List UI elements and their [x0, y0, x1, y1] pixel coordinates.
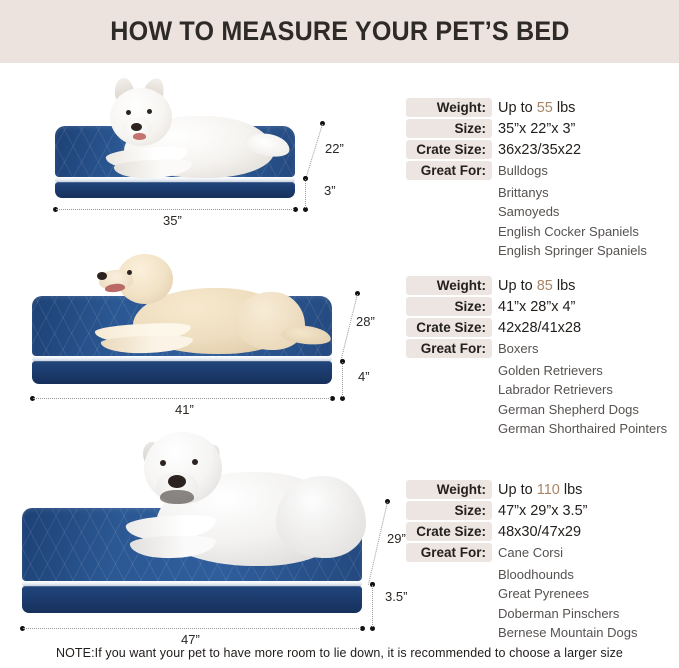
- dim-label-length: 47”: [181, 632, 200, 647]
- breed-row: Doberman Pinschers: [406, 604, 676, 624]
- dim-label-height: 3”: [324, 183, 336, 198]
- spec-line-weight: Weight: Up to 55 lbs: [406, 98, 676, 117]
- dog-ear-left: [139, 439, 166, 467]
- spec-value-crate: 42x28/41x28: [498, 320, 581, 336]
- spacer: [406, 222, 492, 241]
- dim-label-width: 28”: [356, 314, 375, 329]
- spec-value-weight: Up to 110 lbs: [498, 482, 582, 498]
- breed-row: Brittanys: [406, 183, 676, 203]
- spec-value-weight: Up to 55 lbs: [498, 100, 575, 116]
- dim-line-width: [305, 124, 323, 180]
- breed-item: Bloodhounds: [498, 566, 574, 585]
- spec-line-greatfor: Great For: Boxers: [406, 339, 676, 359]
- breed-item: Labrador Retrievers: [498, 381, 613, 400]
- dog-eye-left: [126, 110, 131, 115]
- dog-eye: [127, 270, 132, 275]
- weight-suffix: lbs: [557, 278, 576, 294]
- breed-item: Bulldogs: [498, 162, 548, 181]
- dim-line-length: [56, 209, 294, 210]
- spacer: [406, 604, 492, 623]
- breed-row: Labrador Retrievers: [406, 380, 676, 400]
- bed-illustration-medium: 35” 22” 3”: [0, 70, 400, 248]
- spec-label-crate: Crate Size:: [406, 140, 492, 159]
- bed-top-surface: [32, 296, 332, 356]
- footer-note: NOTE:If you want your pet to have more r…: [0, 646, 679, 660]
- spec-value-crate: 48x30/47x29: [498, 524, 581, 540]
- dog-snout: [98, 269, 133, 291]
- dog-nose: [168, 475, 186, 488]
- dim-line-length: [23, 628, 361, 629]
- breed-row: Great Pyrenees: [406, 584, 676, 604]
- bed-top-surface: [22, 508, 362, 581]
- bed-side-panel: [55, 182, 295, 198]
- spacer: [406, 623, 492, 642]
- dim-label-length: 41”: [175, 402, 194, 417]
- dim-line-width: [368, 502, 388, 585]
- spec-label-size: Size:: [406, 501, 492, 520]
- bed-side-panel: [32, 361, 332, 384]
- spec-value-size: 47”x 29”x 3.5”: [498, 503, 587, 519]
- spec-label-crate: Crate Size:: [406, 318, 492, 337]
- weight-suffix: lbs: [564, 482, 583, 498]
- dog-eye-right: [147, 109, 152, 114]
- breed-row: English Cocker Spaniels: [406, 222, 676, 242]
- breed-item: Cane Corsi: [498, 544, 563, 563]
- spacer: [406, 183, 492, 202]
- breed-row: Samoyeds: [406, 202, 676, 222]
- dim-label-height: 3.5”: [385, 589, 407, 604]
- bed-graphic: [55, 126, 295, 198]
- dim-line-height: [305, 179, 306, 208]
- dim-label-length: 35”: [163, 213, 182, 228]
- breed-row: Bloodhounds: [406, 565, 676, 585]
- spec-label-size: Size:: [406, 297, 492, 316]
- spec-value-crate: 36x23/35x22: [498, 142, 581, 158]
- spec-label-weight: Weight:: [406, 98, 492, 117]
- breed-item: Boxers: [498, 340, 538, 359]
- bed-side-panel: [22, 586, 362, 613]
- weight-suffix: lbs: [557, 100, 576, 116]
- dog-snout: [156, 472, 198, 502]
- spec-label-crate: Crate Size:: [406, 522, 492, 541]
- spacer: [406, 400, 492, 419]
- dim-label-width: 29”: [387, 531, 406, 546]
- spec-value-size: 41”x 28”x 4”: [498, 299, 575, 315]
- spec-label-greatfor: Great For:: [406, 161, 492, 180]
- breed-item: Samoyeds: [498, 203, 559, 222]
- spec-line-greatfor: Great For: Bulldogs: [406, 161, 676, 181]
- size-row-large: 41” 28” 4” Weight: Up to 85 lbs Size: 41…: [0, 248, 679, 430]
- dog-nose: [97, 272, 107, 280]
- dim-label-height: 4”: [358, 369, 370, 384]
- dog-ear-left: [111, 76, 136, 104]
- weight-prefix: Up to: [498, 278, 533, 294]
- spec-value-weight: Up to 85 lbs: [498, 278, 575, 294]
- spec-label-greatfor: Great For:: [406, 543, 492, 562]
- spec-value-size: 35”x 22”x 3”: [498, 121, 575, 137]
- bed-illustration-large: 41” 28” 4”: [0, 248, 400, 430]
- page-title: HOW TO MEASURE YOUR PET’S BED: [110, 16, 569, 47]
- dog-tongue: [105, 283, 126, 293]
- breed-item: Doberman Pinschers: [498, 605, 619, 624]
- spec-label-greatfor: Great For:: [406, 339, 492, 358]
- spec-label-weight: Weight:: [406, 480, 492, 499]
- bed-graphic: [32, 296, 332, 384]
- spec-line-crate: Crate Size: 48x30/47x29: [406, 522, 676, 541]
- spec-line-greatfor: Great For: Cane Corsi: [406, 543, 676, 563]
- dim-label-width: 22”: [325, 141, 344, 156]
- dim-line-height: [372, 585, 373, 627]
- breed-row: German Shepherd Dogs: [406, 400, 676, 420]
- spacer: [406, 584, 492, 603]
- spec-label-size: Size:: [406, 119, 492, 138]
- bed-graphic: [22, 508, 362, 613]
- dog-ear-near: [119, 261, 141, 295]
- dog-head: [144, 432, 222, 504]
- breed-item: Great Pyrenees: [498, 585, 589, 604]
- weight-number: 110: [537, 482, 560, 498]
- dim-line-height: [342, 362, 343, 397]
- spacer: [406, 380, 492, 399]
- spec-block-medium: Weight: Up to 55 lbs Size: 35”x 22”x 3” …: [406, 98, 676, 261]
- bed-top-surface: [55, 126, 295, 177]
- spec-block-xlarge: Weight: Up to 110 lbs Size: 47”x 29”x 3.…: [406, 480, 676, 643]
- weight-prefix: Up to: [498, 100, 533, 116]
- spec-line-crate: Crate Size: 36x23/35x22: [406, 140, 676, 159]
- spacer: [406, 361, 492, 380]
- spec-line-weight: Weight: Up to 85 lbs: [406, 276, 676, 295]
- breed-item: English Cocker Spaniels: [498, 223, 639, 242]
- header-banner: HOW TO MEASURE YOUR PET’S BED: [0, 0, 679, 63]
- spacer: [406, 565, 492, 584]
- breed-row: Golden Retrievers: [406, 361, 676, 381]
- dog-eye-left: [160, 460, 166, 466]
- breed-row: Bernese Mountain Dogs: [406, 623, 676, 643]
- spec-line-crate: Crate Size: 42x28/41x28: [406, 318, 676, 337]
- size-row-medium: 35” 22” 3” Weight: Up to 55 lbs Size: 35…: [0, 70, 679, 248]
- dog-jowl: [160, 490, 194, 504]
- breed-item: Bernese Mountain Dogs: [498, 624, 637, 643]
- weight-number: 85: [537, 278, 553, 294]
- dog-eye-right: [192, 459, 198, 465]
- breed-item: German Shepherd Dogs: [498, 401, 639, 420]
- breed-item: Brittanys: [498, 184, 549, 203]
- spec-line-size: Size: 47”x 29”x 3.5”: [406, 501, 676, 520]
- dog-ear-right: [142, 76, 167, 104]
- spec-line-weight: Weight: Up to 110 lbs: [406, 480, 676, 499]
- weight-number: 55: [537, 100, 553, 116]
- weight-prefix: Up to: [498, 482, 533, 498]
- breed-item: Golden Retrievers: [498, 362, 603, 381]
- dog-ear-right: [197, 441, 223, 469]
- spec-label-weight: Weight:: [406, 276, 492, 295]
- spec-block-large: Weight: Up to 85 lbs Size: 41”x 28”x 4” …: [406, 276, 676, 439]
- size-row-xlarge: 47” 29” 3.5” Weight: Up to 110 lbs Size:…: [0, 430, 679, 638]
- spacer: [406, 202, 492, 221]
- bed-illustration-xlarge: 47” 29” 3.5”: [0, 430, 400, 638]
- dim-line-length: [33, 398, 331, 399]
- spec-line-size: Size: 41”x 28”x 4”: [406, 297, 676, 316]
- spec-line-size: Size: 35”x 22”x 3”: [406, 119, 676, 138]
